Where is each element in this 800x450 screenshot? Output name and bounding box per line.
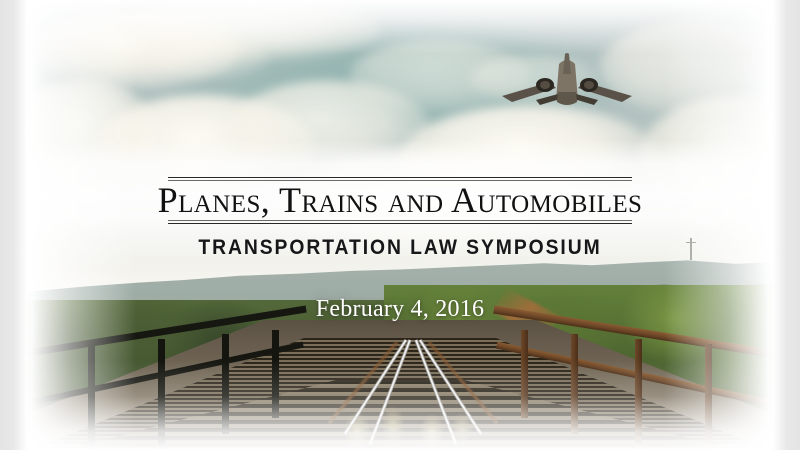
title-rule-top [168,177,633,178]
title-rule-bottom-secondary [168,220,633,221]
title-rule-bottom [168,223,633,224]
title-slide: Planes, Trains and Automobiles TRANSPORT… [0,0,800,450]
title-block: Planes, Trains and Automobiles [0,176,800,226]
slide-title-text: Planes, Trains and Automobiles [158,180,643,220]
slide-title: Planes, Trains and Automobiles [158,176,643,226]
slide-subtitle: TRANSPORTATION LAW SYMPOSIUM [32,236,768,260]
slide-date: February 4, 2016 [0,296,800,323]
text-layer: Planes, Trains and Automobiles TRANSPORT… [0,0,800,450]
